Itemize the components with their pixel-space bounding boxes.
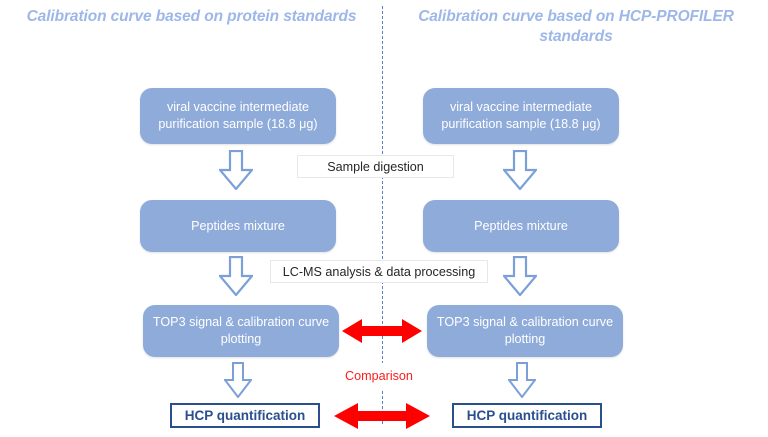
left-step4-hcp-quantification-box: HCP quantification	[170, 403, 320, 428]
right-step1-sample-box: viral vaccine intermediate purification …	[423, 88, 619, 144]
right-step4-hcp-quantification-box: HCP quantification	[452, 403, 602, 428]
right-step2-peptides-box: Peptides mixture	[423, 200, 619, 252]
branch-divider	[382, 6, 383, 424]
down-arrow-icon	[219, 256, 253, 296]
double-headed-arrow-icon	[342, 316, 422, 346]
flowchart-canvas: Calibration curve based on protein stand…	[0, 0, 768, 437]
right-step3-top3-box: TOP3 signal & calibration curve plotting	[427, 305, 623, 357]
right-branch-title: Calibration curve based on HCP-PROFILER …	[396, 7, 756, 47]
sample-digestion-label: Sample digestion	[297, 155, 454, 178]
lcms-analysis-label: LC-MS analysis & data processing	[270, 260, 488, 283]
down-arrow-icon	[224, 362, 252, 398]
down-arrow-icon	[508, 362, 536, 398]
down-arrow-icon	[503, 256, 537, 296]
left-step2-peptides-box: Peptides mixture	[140, 200, 336, 252]
comparison-label: Comparison	[327, 363, 431, 389]
left-step1-sample-box: viral vaccine intermediate purification …	[140, 88, 336, 144]
double-headed-arrow-icon	[334, 400, 430, 432]
down-arrow-icon	[219, 150, 253, 190]
left-branch-title: Calibration curve based on protein stand…	[14, 7, 369, 27]
down-arrow-icon	[503, 150, 537, 190]
left-step3-top3-box: TOP3 signal & calibration curve plotting	[143, 305, 339, 357]
